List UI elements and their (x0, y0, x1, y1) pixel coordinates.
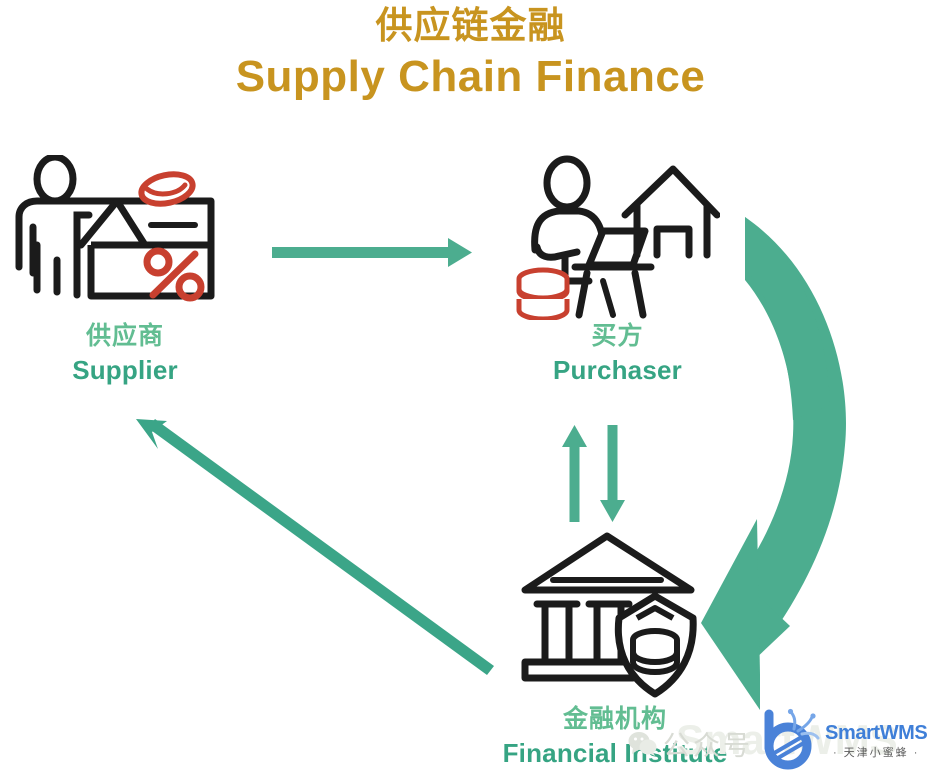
page-title-cn: 供应链金融 (0, 4, 941, 48)
page-title: 供应链金融 Supply Chain Finance (0, 0, 941, 104)
smartwms-logo-name: SmartWMS (825, 723, 927, 743)
node-purchaser-label-cn: 买方 (505, 320, 730, 353)
smartwms-logo-sub: · 天津小蜜蜂 · (825, 748, 927, 759)
arrow-financial-to-purchaser-up (562, 425, 587, 522)
arrow-purchaser-to-financial-down (600, 425, 625, 522)
purchaser-desk-icon (505, 155, 720, 320)
bank-shield-icon (515, 528, 710, 703)
node-supplier-label-cn: 供应商 (5, 320, 245, 353)
diagram-canvas: 供应链金融 Supply Chain Finance (0, 0, 941, 781)
wechat-icon (628, 731, 658, 757)
node-supplier-labels: 供应商 Supplier (5, 320, 245, 387)
node-purchaser-label-en: Purchaser (505, 353, 730, 387)
supplier-warehouse-icon (5, 155, 235, 320)
node-purchaser-labels: 买方 Purchaser (505, 320, 730, 387)
page-title-en: Supply Chain Finance (0, 50, 941, 104)
smartwms-logo-text: SmartWMS · 天津小蜜蜂 · (825, 719, 927, 759)
watermark-wechat: 公众号 · (628, 724, 776, 763)
node-supplier[interactable]: 供应商 Supplier (5, 155, 245, 387)
bee-logo-icon (760, 708, 822, 770)
node-purchaser[interactable]: 买方 Purchaser (505, 155, 730, 387)
arrow-financial-to-supplier-diagonal (136, 419, 494, 675)
smartwms-logo[interactable]: SmartWMS · 天津小蜜蜂 · (760, 708, 927, 770)
watermark-wechat-label: 公众号 · (663, 724, 776, 763)
arrow-supplier-to-purchaser (272, 238, 472, 267)
node-supplier-label-en: Supplier (5, 353, 245, 387)
